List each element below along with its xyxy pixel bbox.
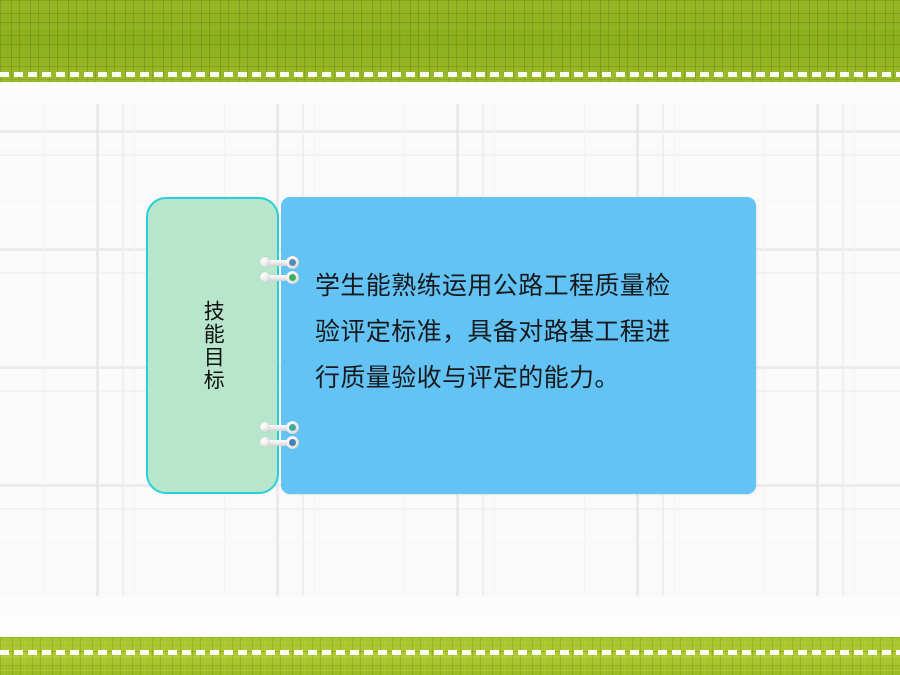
bottom-green-banner (0, 637, 900, 675)
objective-content-text: 学生能熟练运用公路工程质量检 验评定标准，具备对路基工程进 行质量验收与评定的能… (315, 263, 715, 401)
objective-line-2: 验评定标准，具备对路基工程进 (315, 309, 715, 355)
slide-canvas: 技能目标 学生能熟练运用公路工程质量检 验评定标准，具备对路基工程进 行质量验收… (0, 0, 900, 675)
objective-line-3: 行质量验收与评定的能力。 (315, 355, 715, 401)
bottom-dashed-stitch-line (0, 650, 900, 655)
background-bottom-fade (0, 596, 900, 638)
top-green-banner (0, 0, 900, 82)
top-dashed-stitch-line (0, 72, 900, 77)
skill-objective-title-card: 技能目标 (146, 197, 279, 494)
top-banner-shadow (0, 78, 900, 83)
skill-objective-title-vertical-label: 技能目标 (201, 300, 225, 392)
objective-content-card: 学生能熟练运用公路工程质量检 验评定标准，具备对路基工程进 行质量验收与评定的能… (281, 197, 756, 494)
objective-line-1: 学生能熟练运用公路工程质量检 (315, 263, 715, 309)
